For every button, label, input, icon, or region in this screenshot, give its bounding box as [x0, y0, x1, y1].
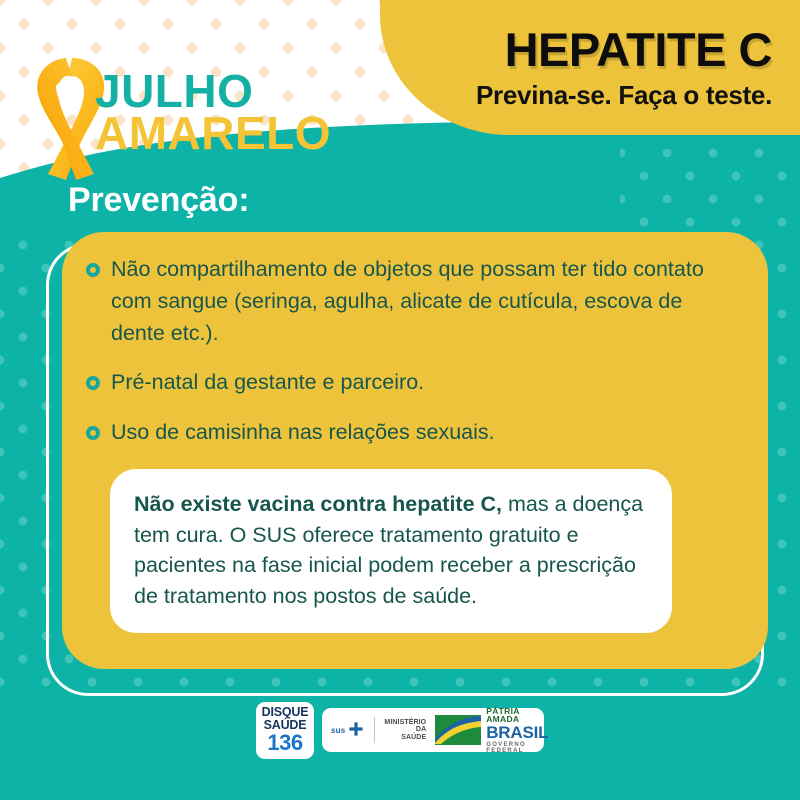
brasil-text: BRASIL — [486, 724, 548, 742]
sus-logo: sus — [331, 721, 365, 739]
campaign-brand: JULHO AMARELO — [95, 70, 331, 155]
list-item: Uso de camisinha nas relações sexuais. — [86, 417, 734, 449]
bullet-dot-icon — [86, 376, 100, 390]
list-item: Pré-natal da gestante e parceiro. — [86, 367, 734, 399]
ministerio-line-1: MINISTÉRIO DA — [384, 719, 426, 735]
disque-line-1: DISQUE — [261, 706, 309, 719]
brasil-wordmark-group: PÁTRIA AMADA BRASIL GOVERNO FEDERAL — [486, 707, 548, 754]
brand-line-julho: JULHO — [95, 70, 331, 112]
list-item-label: Não compartilhamento de objetos que poss… — [111, 254, 734, 349]
disque-saude-logo: DISQUE SAÚDE 136 — [256, 702, 314, 759]
patria-amada-text: PÁTRIA AMADA — [486, 707, 548, 724]
poster-canvas: HEPATITE C Previna-se. Faça o teste. JUL… — [0, 0, 800, 800]
section-heading: Prevenção: — [68, 181, 249, 220]
list-item-label: Uso de camisinha nas relações sexuais. — [111, 417, 495, 449]
brazil-flag-swoosh-icon — [435, 715, 481, 745]
prevention-list: Não compartilhamento de objetos que poss… — [86, 254, 734, 467]
sus-wordmark: sus — [331, 726, 345, 735]
callout-text: Não existe vacina contra hepatite C, mas… — [134, 489, 648, 611]
government-logo-bar: sus MINISTÉRIO DA SAÚDE PÁTRIA AMADA — [322, 708, 544, 752]
header-subtitle: Previna-se. Faça o teste. — [476, 80, 772, 111]
health-cross-icon — [347, 721, 365, 739]
bullet-dot-icon — [86, 426, 100, 440]
callout-bold-lead: Não existe vacina contra hepatite C, — [134, 492, 502, 516]
list-item-label: Pré-natal da gestante e parceiro. — [111, 367, 424, 399]
brand-line-amarelo: AMARELO — [95, 112, 331, 154]
list-item: Não compartilhamento de objetos que poss… — [86, 254, 734, 349]
content-panel: Não compartilhamento de objetos que poss… — [62, 232, 768, 669]
treatment-callout: Não existe vacina contra hepatite C, mas… — [110, 469, 672, 633]
disque-phone-number: 136 — [261, 732, 309, 754]
footer-logos: DISQUE SAÚDE 136 sus MINISTÉRIO DA SAÚDE — [0, 702, 800, 759]
page-title: HEPATITE C — [505, 22, 772, 77]
header-card: HEPATITE C Previna-se. Faça o teste. — [380, 0, 800, 135]
ministerio-line-2: SAÚDE — [384, 734, 426, 742]
patria-amada-brasil-logo: PÁTRIA AMADA BRASIL GOVERNO FEDERAL — [435, 707, 548, 754]
governo-federal-text: GOVERNO FEDERAL — [486, 742, 548, 754]
logo-divider — [374, 717, 375, 743]
ministerio-saude-logo: MINISTÉRIO DA SAÚDE — [384, 719, 426, 742]
bullet-dot-icon — [86, 263, 100, 277]
